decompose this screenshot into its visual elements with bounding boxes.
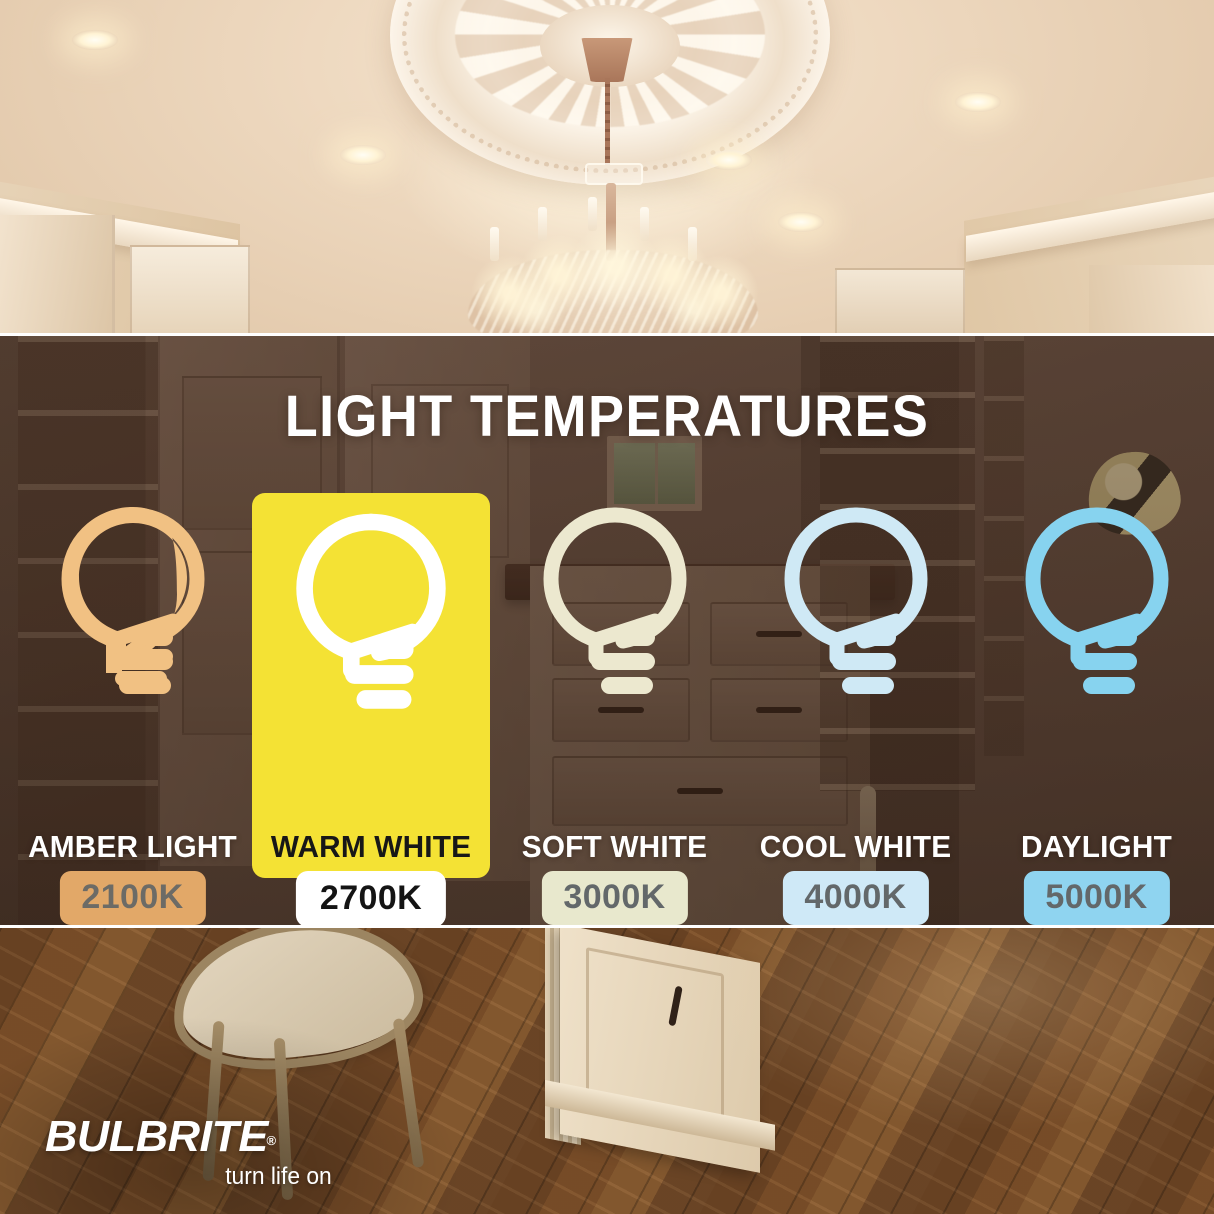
column-capital-right [1089,265,1214,334]
temperature-label: AMBER LIGHT [17,831,248,862]
kelvin-badge: 2700K [296,871,446,927]
ceiling-chandelier-photo [0,0,1214,334]
chandelier-glow [450,215,780,334]
page-title: LIGHT TEMPERATURES [42,388,1171,446]
crystal-chandelier [430,155,790,334]
brand-wordmark-row: BULBRITE® [45,1115,345,1159]
temperature-label: DAYLIGHT [981,831,1212,862]
kelvin-badge: 2100K [59,871,205,925]
chandelier-ring [585,163,643,185]
brand-wordmark: BULBRITE [45,1115,268,1159]
temperature-label: WARM WHITE [257,831,485,862]
light-bulb-icon [1017,501,1177,716]
kelvin-badge: 5000K [1023,871,1169,925]
temperature-label: COOL WHITE [740,831,971,862]
divider-line-bottom [0,925,1214,928]
light-bulb-icon [535,501,695,716]
recessed-light [72,30,118,50]
kelvin-badge: 3000K [541,871,687,925]
light-bulb-icon [288,507,454,731]
kelvin-badge: 4000K [782,871,928,925]
recessed-light [340,145,386,165]
bulb-icon-wrap [735,496,976,721]
column-capital-left [0,215,115,334]
registered-trademark-icon: ® [266,1133,276,1148]
bulb-icon-wrap [494,496,735,721]
chandelier-chain [605,78,610,165]
light-bulb-icon [776,501,936,716]
door-panel-upper-right [835,268,965,334]
brand-tagline: turn life on [60,1165,345,1189]
temperature-label: SOFT WHITE [499,831,730,862]
light-bulb-icon [53,501,213,716]
door-panel-upper-left [130,245,250,334]
bulb-icon-wrap [252,506,490,731]
brand-logo: BULBRITE® turn life on [45,1115,345,1189]
light-temperatures-infographic: LIGHT TEMPERATURES [0,0,1214,1214]
bulb-icon-wrap [976,496,1214,721]
recessed-light [955,92,1001,112]
bulb-icon-wrap [12,496,253,721]
